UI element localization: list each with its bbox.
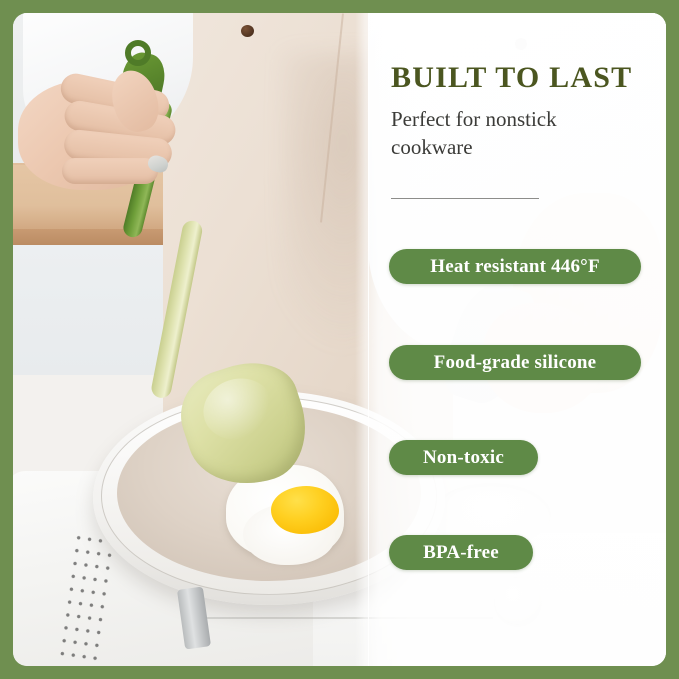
hand-finger	[62, 158, 158, 184]
divider-rule	[391, 198, 539, 199]
feature-badge-non-toxic[interactable]: Non-toxic	[389, 440, 538, 475]
feature-badge-food-grade-silicone[interactable]: Food-grade silicone	[389, 345, 641, 380]
cook-hand	[18, 68, 193, 203]
feature-pill-row: Food-grade silicone	[389, 345, 641, 380]
feature-pill-row: Heat resistant 446°F	[389, 249, 641, 284]
card-inner-frame: BUILT TO LAST Perfect for nonstick cookw…	[13, 13, 666, 666]
subtitle: Perfect for nonstick cookware	[391, 106, 631, 161]
feature-badge-bpa-free[interactable]: BPA-free	[389, 535, 533, 570]
text-panel: BUILT TO LAST Perfect for nonstick cookw…	[378, 13, 666, 666]
feature-badge-heat-resistant[interactable]: Heat resistant 446°F	[389, 249, 641, 284]
feature-pill-row: Non-toxic	[389, 440, 538, 475]
overlay-edge	[368, 13, 369, 666]
page-title: BUILT TO LAST	[391, 61, 632, 95]
spatula-hanging-loop-icon	[125, 40, 151, 66]
product-feature-card: BUILT TO LAST Perfect for nonstick cookw…	[0, 0, 679, 679]
feature-pill-row: BPA-free	[389, 535, 533, 570]
apron-button	[241, 25, 254, 37]
